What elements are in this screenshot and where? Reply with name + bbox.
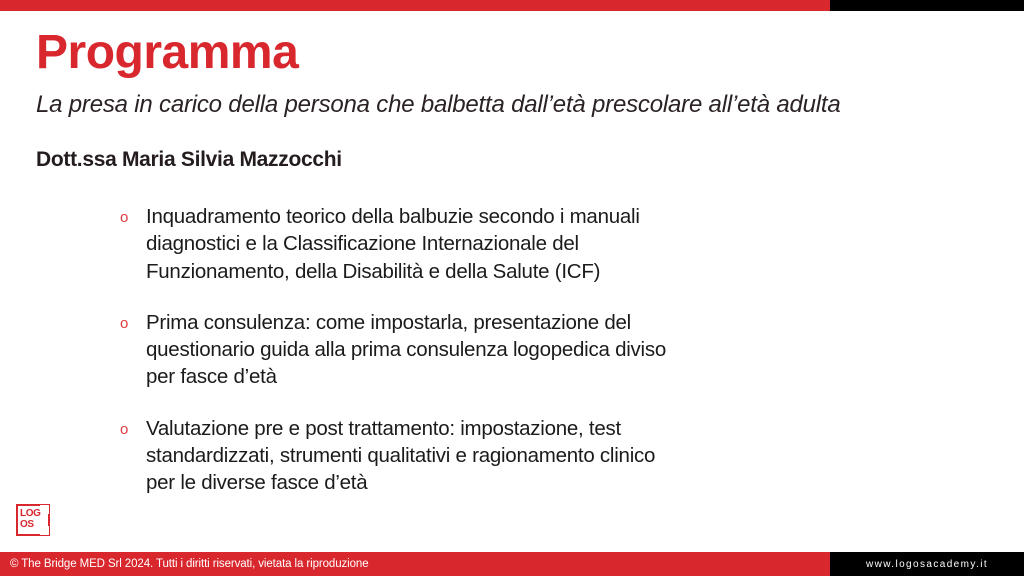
agenda-item-text: Inquadramento teorico della balbuzie sec… (146, 203, 880, 285)
slide-subtitle: La presa in carico della persona che bal… (36, 90, 996, 120)
presentation-slide: Programma La presa in carico della perso… (0, 0, 1024, 576)
logo-wordmark-line1: LOG (20, 508, 40, 519)
footer-website-bar: www.logosacademy.it (830, 552, 1024, 576)
top-accent-bar (0, 0, 1024, 11)
circle-bullet-icon: o (120, 203, 146, 225)
slide-header: Programma La presa in carico della perso… (36, 26, 996, 172)
logo-notch-top-right (40, 505, 49, 514)
logo-notch-bottom-right (40, 526, 49, 535)
footer-website-text: www.logosacademy.it (866, 559, 988, 570)
circle-bullet-icon: o (120, 309, 146, 331)
footer-copyright-text: © The Bridge MED Srl 2024. Tutti i dirit… (10, 558, 369, 570)
top-accent-red-segment (0, 0, 830, 11)
circle-bullet-icon: o (120, 415, 146, 437)
footer-copyright-bar: © The Bridge MED Srl 2024. Tutti i dirit… (0, 552, 830, 576)
page-title: Programma (36, 26, 996, 80)
list-item: o Inquadramento teorico della balbuzie s… (120, 203, 880, 285)
agenda-list: o Inquadramento teorico della balbuzie s… (120, 203, 880, 496)
logo-wordmark: LOG OS (20, 508, 40, 530)
list-item: o Valutazione pre e post trattamento: im… (120, 415, 880, 497)
speaker-name: Dott.ssa Maria Silvia Mazzocchi (36, 148, 996, 172)
agenda-item-text: Valutazione pre e post trattamento: impo… (146, 415, 880, 497)
logo-wordmark-line2: OS (20, 519, 40, 530)
top-accent-black-segment (830, 0, 1024, 11)
agenda-item-text: Prima consulenza: come impostarla, prese… (146, 309, 880, 391)
slide-footer: © The Bridge MED Srl 2024. Tutti i dirit… (0, 552, 1024, 576)
list-item: o Prima consulenza: come impostarla, pre… (120, 309, 880, 391)
logos-logo: LOG OS (16, 504, 54, 538)
